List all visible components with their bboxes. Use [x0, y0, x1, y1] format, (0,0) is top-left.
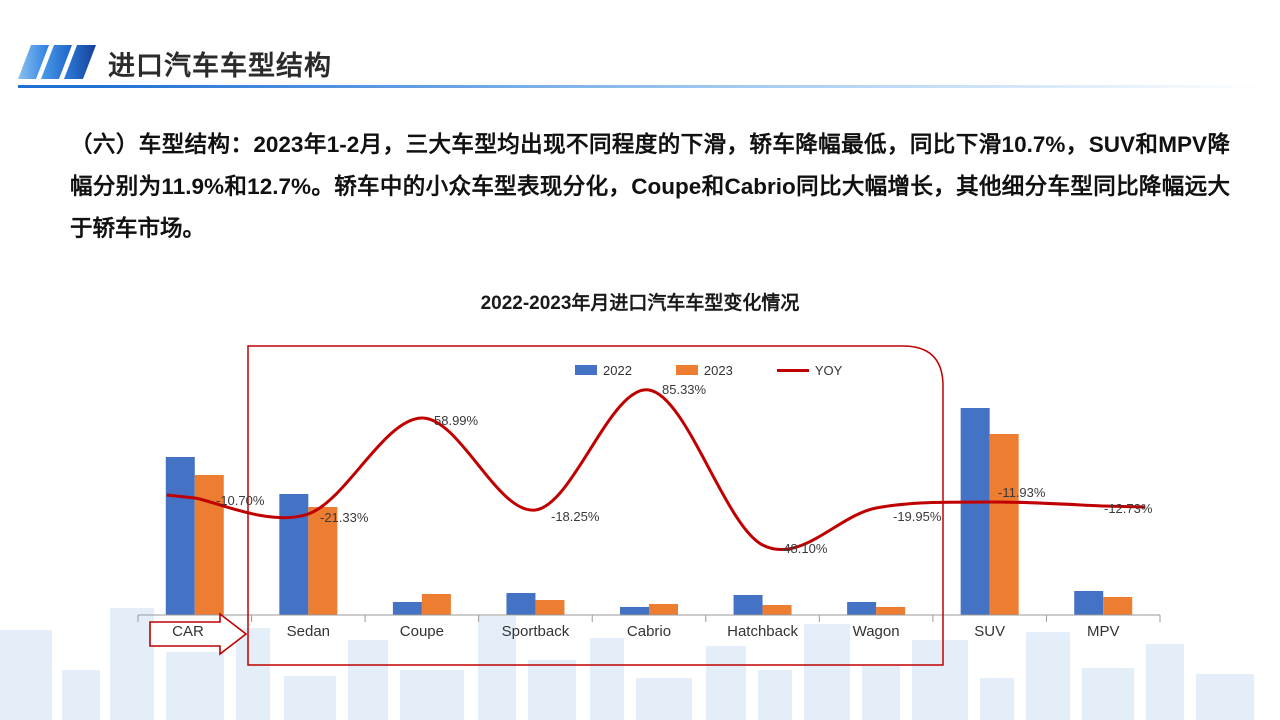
legend-item-2023: 2023	[676, 363, 733, 378]
yoy-label-wagon: -19.95%	[893, 509, 941, 524]
yoy-label-hatchback: -48.10%	[779, 541, 827, 556]
car-callout-label: CAR	[148, 623, 228, 640]
legend-item-2022: 2022	[575, 363, 632, 378]
category-label-hatchback: Hatchback	[703, 623, 823, 640]
yoy-label-sportback: -18.25%	[551, 509, 599, 524]
category-label-sportback: Sportback	[475, 623, 595, 640]
category-label-cabrio: Cabrio	[589, 623, 709, 640]
legend-swatch-2023-icon	[676, 365, 698, 375]
legend-label-yoy: YOY	[815, 363, 842, 378]
category-label-mpv: MPV	[1043, 623, 1163, 640]
chart-legend: 2022 2023 YOY	[575, 360, 895, 380]
page-header: 进口汽车车型结构	[0, 0, 1280, 100]
page-title: 进口汽车车型结构	[108, 44, 332, 83]
chart-title: 2022-2023年月进口汽车车型变化情况	[0, 288, 1280, 315]
yoy-label-sedan: -21.33%	[320, 510, 368, 525]
header-divider	[18, 85, 1262, 88]
yoy-label-cabrio: 85.33%	[662, 382, 706, 397]
category-label-wagon: Wagon	[816, 623, 936, 640]
yoy-label-coupe: 58.99%	[434, 413, 478, 428]
category-label-sedan: Sedan	[248, 623, 368, 640]
legend-label-2023: 2023	[704, 363, 733, 378]
category-label-suv: SUV	[930, 623, 1050, 640]
chart-highlight-box	[248, 346, 943, 665]
triple-slash-logo-icon	[18, 45, 96, 79]
yoy-label-suv: -11.93%	[998, 485, 1045, 500]
body-paragraph: （六）车型结构：2023年1-2月，三大车型均出现不同程度的下滑，轿车降幅最低，…	[70, 124, 1230, 250]
legend-item-yoy: YOY	[777, 363, 842, 378]
legend-swatch-2022-icon	[575, 365, 597, 375]
chart-axis-group	[138, 615, 1160, 622]
category-label-coupe: Coupe	[362, 623, 482, 640]
yoy-label-car: -10.70%	[216, 493, 264, 508]
legend-swatch-yoy-icon	[777, 369, 809, 372]
yoy-label-mpv: -12.73%	[1104, 501, 1152, 516]
legend-label-2022: 2022	[603, 363, 632, 378]
